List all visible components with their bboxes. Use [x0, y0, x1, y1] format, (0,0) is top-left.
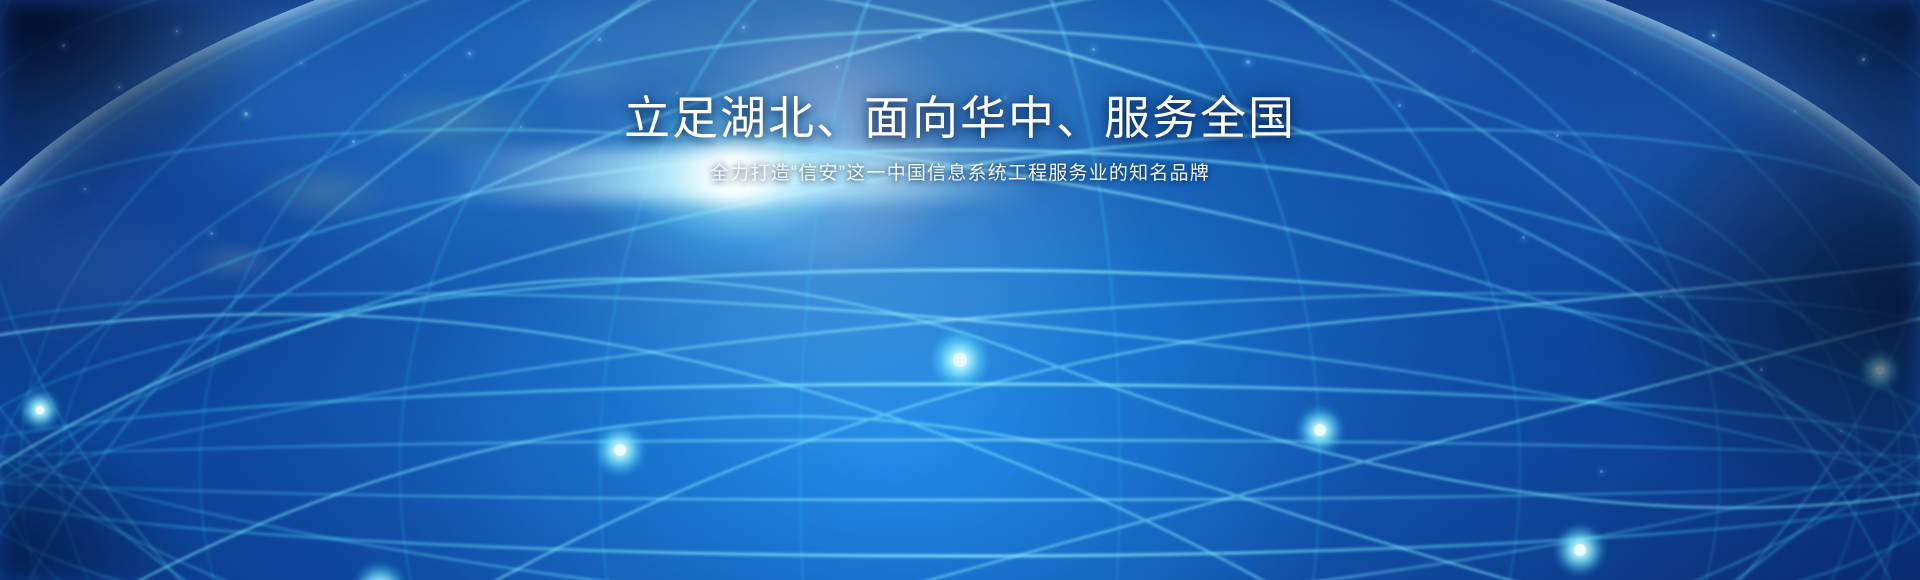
hero-copy: 立足湖北、面向华中、服务全国 全力打造“信安”这一中国信息系统工程服务业的知名品… [0, 92, 1920, 188]
vignette-overlay [0, 0, 1920, 580]
page-title: 立足湖北、面向华中、服务全国 [0, 92, 1920, 145]
page-subtitle: 全力打造“信安”这一中国信息系统工程服务业的知名品牌 [0, 161, 1920, 188]
hero-banner: 立足湖北、面向华中、服务全国 全力打造“信安”这一中国信息系统工程服务业的知名品… [0, 0, 1920, 580]
